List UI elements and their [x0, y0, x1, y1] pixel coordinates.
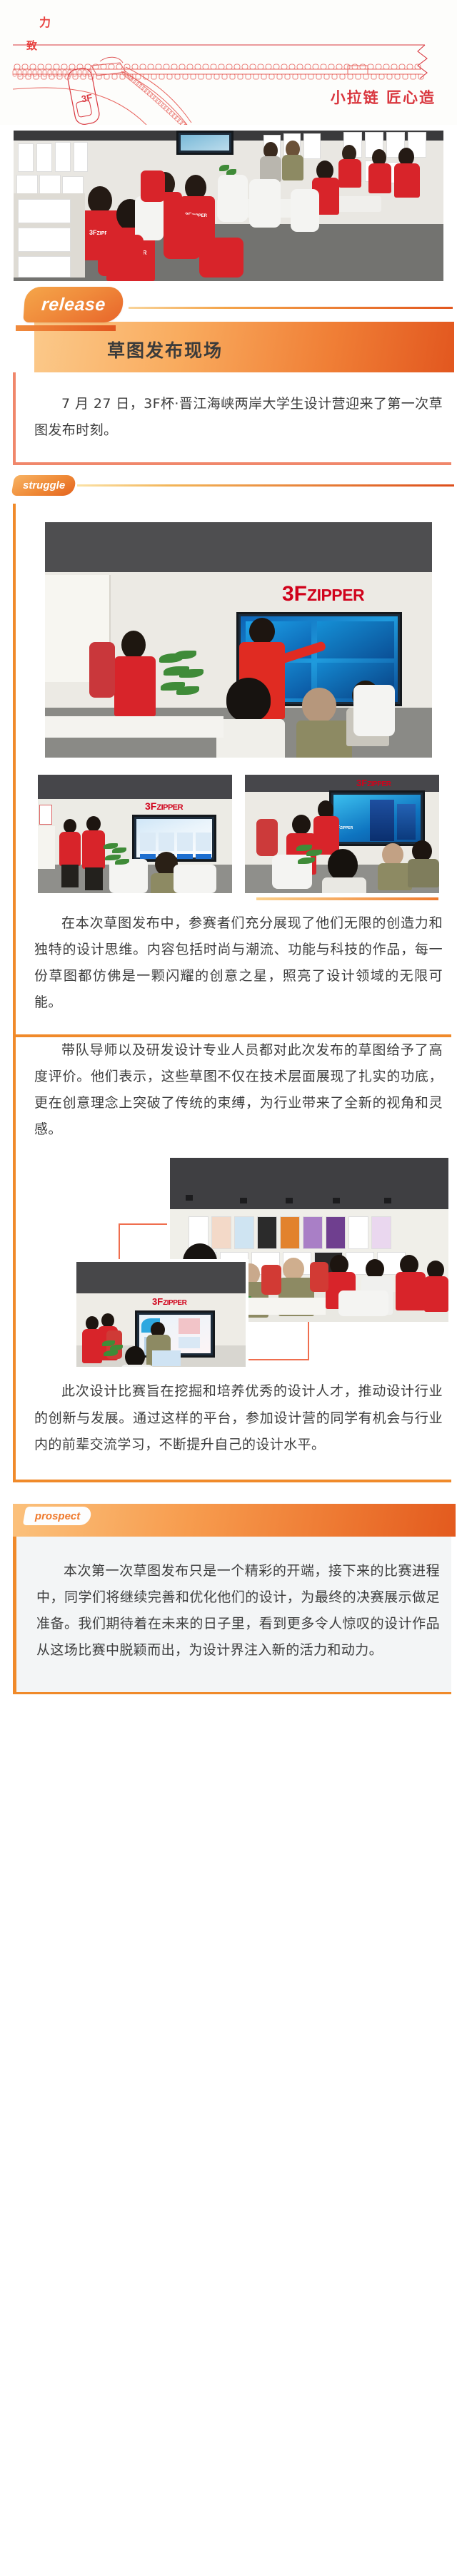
tab-prospect[interactable]: prospect — [23, 1507, 93, 1525]
section-prospect: prospect 本次第一次草图发布只是一个精彩的开端，接下来的比赛进程中，同学… — [0, 1501, 457, 1694]
struggle-paragraph-1: 在本次草图发布中，参赛者们充分展现了他们无限的创造力和独特的设计思维。内容包括时… — [34, 910, 443, 1016]
release-rule — [129, 307, 453, 309]
prospect-paragraph: 本次第一次草图发布只是一个精彩的开端，接下来的比赛进程中，同学们将继续完善和优化… — [36, 1558, 440, 1664]
struggle-paragraph-3: 此次设计比赛旨在挖掘和培养优秀的设计人才，推动设计行业的创新与发展。通过这样的平… — [34, 1378, 443, 1457]
struggle-body-frame-3: 此次设计比赛旨在挖掘和培养优秀的设计人才，推动设计行业的创新与发展。通过这样的平… — [13, 1374, 451, 1482]
deco-char-li: 力 — [39, 13, 51, 30]
photo-collage: 3FZIPPER — [34, 1156, 457, 1370]
tab-release-label: release — [23, 287, 124, 322]
prospect-body-frame: 本次第一次草图发布只是一个精彩的开端，接下来的比赛进程中，同学们将继续完善和优化… — [13, 1537, 451, 1694]
photo-presentation-1: 3FZIPPER — [45, 522, 432, 758]
header-slogan: 小拉链 匠心造 — [331, 86, 436, 108]
header-banner: 力 致 3F 小拉链 匠心造 — [0, 0, 457, 125]
struggle-rule — [77, 484, 454, 487]
photo-duo-row: 3FZIPPER — [34, 775, 443, 893]
struggle-body-frame: 3FZIPPER — [13, 504, 451, 1037]
section-struggle-part2: 带队导师以及研发设计专业人员都对此次发布的草图给予了高度评价。他们表示，这些草图… — [0, 1037, 457, 1374]
deco-char-zhi: 致 — [26, 38, 37, 53]
struggle-section-header: struggle — [0, 465, 457, 504]
photo-presentation-3: 3FZIPPER 3FZIPPER — [245, 775, 439, 893]
struggle-body-frame-2: 带队导师以及研发设计专业人员都对此次发布的草图给予了高度评价。他们表示，这些草图… — [13, 1037, 451, 1374]
tab-prospect-label: prospect — [35, 1510, 80, 1522]
section-release: release 草图发布现场 7 月 27 日，3F杯·晋江海峡两岸大学生设计营… — [0, 281, 457, 465]
release-section-header: release 草图发布现场 — [0, 281, 457, 372]
photo-screen-demo: 3FZIPPER — [74, 1259, 248, 1370]
release-paragraph: 7 月 27 日，3F杯·晋江海峡两岸大学生设计营迎来了第一次草图发布时刻。 — [34, 391, 443, 444]
release-title: 草图发布现场 — [107, 337, 223, 362]
photo-presentation-2: 3FZIPPER — [38, 775, 232, 893]
zipper-brand-mark: 3F — [81, 92, 94, 105]
section-struggle: struggle 3FZIPPER — [0, 465, 457, 1037]
release-bar-tip — [16, 325, 116, 331]
struggle-paragraph-2: 带队导师以及研发设计专业人员都对此次发布的草图给予了高度评价。他们表示，这些草图… — [34, 1037, 443, 1143]
tab-struggle[interactable]: struggle — [11, 475, 76, 496]
hero-photo-classroom: 3FZIPPER 3FZIPPER 3FZIPPER — [14, 131, 443, 281]
tab-struggle-label: struggle — [23, 479, 65, 492]
tab-release[interactable]: release — [23, 287, 124, 322]
release-body-frame: 7 月 27 日，3F杯·晋江海峡两岸大学生设计营迎来了第一次草图发布时刻。 — [13, 372, 451, 465]
section-struggle-part3: 此次设计比赛旨在挖掘和培养优秀的设计人才，推动设计行业的创新与发展。通过这样的平… — [0, 1374, 457, 1482]
prospect-section-header: prospect — [0, 1501, 457, 1537]
